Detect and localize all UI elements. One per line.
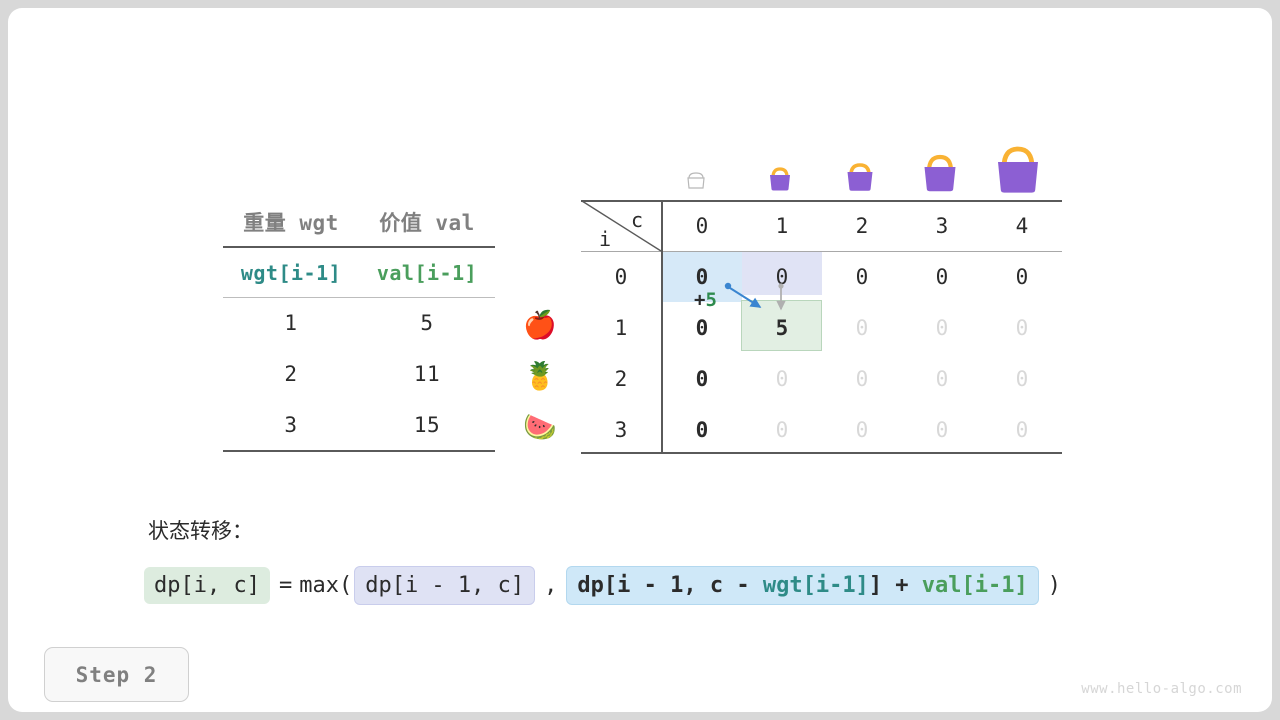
bag-empty-icon: [685, 170, 707, 190]
apple-icon: 🍎: [516, 300, 564, 351]
bag-1-icon: [765, 164, 795, 192]
item-table-subheader-row: wgt[i-1] val[i-1]: [223, 246, 495, 297]
formula-target: dp[i, c]: [144, 567, 270, 604]
item-table: 重量 wgt 价值 val wgt[i-1] val[i-1] 1 5 2 11…: [223, 198, 495, 452]
transition-formula: dp[i, c] = max( dp[i - 1, c] , dp[i - 1,…: [142, 566, 1068, 605]
formula-equals: =: [272, 573, 299, 598]
item-wgt-2: 2: [223, 362, 359, 386]
formula-option-skip: dp[i - 1, c]: [354, 566, 535, 605]
fruit-column: 🍎 🍍 🍉: [516, 300, 564, 453]
formula-take-mid: ] +: [869, 573, 922, 598]
item-table-header-row: 重量 wgt 价值 val: [223, 198, 495, 246]
watermark: www.hello-algo.com: [1081, 681, 1242, 697]
formula-comma: ,: [537, 573, 564, 598]
formula-max-open: max(: [299, 573, 352, 598]
bag-4-icon: [991, 141, 1045, 196]
item-val-3: 15: [359, 413, 495, 437]
slide-canvas: 重量 wgt 价值 val wgt[i-1] val[i-1] 1 5 2 11…: [8, 8, 1272, 712]
step-badge: Step 2: [44, 647, 189, 702]
transition-label: 状态转移：: [148, 515, 253, 545]
item-table-row: 3 15: [223, 399, 495, 450]
item-wgt-3: 3: [223, 413, 359, 437]
dp-table: i c 0 1 2 3 4 0 1 2 3 0 0 0 0 0 0 5 0 0 …: [581, 200, 1062, 454]
item-val-1: 5: [359, 311, 495, 335]
item-table-row: 1 5: [223, 297, 495, 348]
bag-2-icon: [842, 159, 878, 193]
formula-take-prefix: dp[i - 1, c -: [577, 573, 762, 598]
item-table-header-val: 价值 val: [359, 207, 495, 237]
formula-close-paren: ): [1041, 573, 1068, 598]
arrow-vertical-origin-dot: [778, 283, 783, 288]
arrow-layer: [581, 200, 1062, 454]
arrow-diagonal: [730, 288, 760, 307]
formula-take-wgt: wgt[i-1]: [763, 573, 869, 598]
formula-take-val: val[i-1]: [922, 573, 1028, 598]
formula-option-take: dp[i - 1, c - wgt[i-1]] + val[i-1]: [566, 566, 1038, 605]
item-table-bottom-rule: [223, 450, 495, 452]
item-val-2: 11: [359, 362, 495, 386]
bag-3-icon: [918, 150, 962, 194]
item-table-header-wgt: 重量 wgt: [223, 207, 359, 237]
item-table-subheader-wgt: wgt[i-1]: [223, 261, 359, 285]
watermelon-icon: 🍉: [516, 402, 564, 453]
pineapple-icon: 🍍: [516, 351, 564, 402]
item-table-subheader-val: val[i-1]: [359, 261, 495, 285]
bag-icon-row: [581, 134, 1062, 196]
item-table-row: 2 11: [223, 348, 495, 399]
item-wgt-1: 1: [223, 311, 359, 335]
